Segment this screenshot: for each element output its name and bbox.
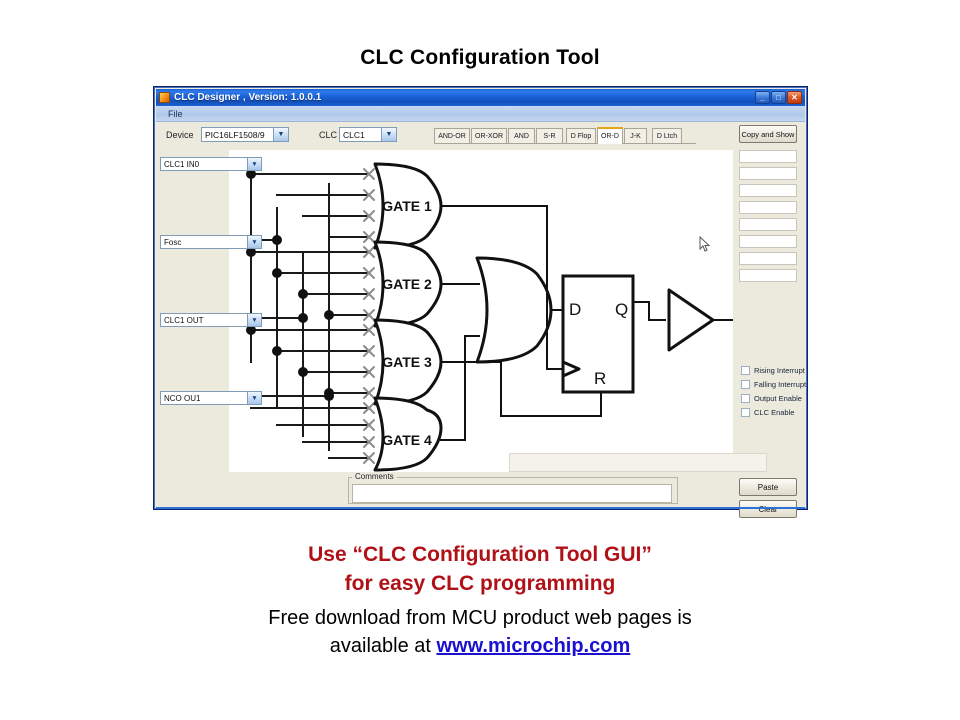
window-client-area: Device PIC16LF1508/9 ▼ CLC CLC1 ▼ AND-OR… bbox=[156, 122, 805, 507]
caption-line-4: available at www.microchip.com bbox=[0, 632, 960, 660]
toolbar-row: Device PIC16LF1508/9 ▼ CLC CLC1 ▼ AND-OR… bbox=[156, 122, 805, 152]
checkbox-label: Rising Interrupt bbox=[754, 366, 805, 375]
input-select-2-value: CLC1 OUT bbox=[161, 316, 204, 325]
tab-j-k[interactable]: J-K bbox=[624, 128, 647, 143]
canvas-bottom-strip bbox=[509, 453, 767, 472]
tab-and-or[interactable]: AND-OR bbox=[434, 128, 470, 143]
config-tabstrip: AND-OR OR-XOR AND S-R D Flop OR-D J-K D … bbox=[434, 127, 696, 144]
svg-text:R: R bbox=[594, 369, 606, 388]
maximize-icon[interactable]: □ bbox=[771, 91, 786, 104]
menu-item-file[interactable]: File bbox=[164, 108, 187, 120]
output-box-5[interactable] bbox=[739, 218, 797, 231]
chevron-down-icon: ▼ bbox=[381, 128, 396, 141]
output-box-8[interactable] bbox=[739, 269, 797, 282]
output-box-7[interactable] bbox=[739, 252, 797, 265]
caption-line-1: Use “CLC Configuration Tool GUI” bbox=[0, 540, 960, 569]
caption-line-3a: Free download from MCU product web pages… bbox=[268, 607, 692, 629]
copy-and-show-button[interactable]: Copy and Show bbox=[739, 125, 797, 143]
clc-select[interactable]: CLC1 ▼ bbox=[339, 127, 397, 142]
checkbox-output-enable[interactable]: Output Enable bbox=[741, 394, 802, 403]
input-select-1[interactable]: Fosc ▼ bbox=[160, 235, 262, 249]
svg-text:GATE 4: GATE 4 bbox=[382, 432, 432, 448]
caption-block: Use “CLC Configuration Tool GUI” for eas… bbox=[0, 540, 960, 660]
clc-label: CLC bbox=[319, 130, 337, 140]
checkbox-clc-enable[interactable]: CLC Enable bbox=[741, 408, 794, 417]
svg-text:GATE 3: GATE 3 bbox=[382, 354, 432, 370]
clc-select-value: CLC1 bbox=[340, 130, 365, 140]
chevron-down-icon: ▼ bbox=[247, 158, 261, 170]
window-buttons: _ □ ✕ bbox=[755, 91, 802, 104]
device-label: Device bbox=[166, 130, 194, 140]
checkbox-rising-interrupt[interactable]: Rising Interrupt bbox=[741, 366, 805, 375]
output-box-6[interactable] bbox=[739, 235, 797, 248]
svg-text:Q: Q bbox=[615, 300, 628, 319]
checkbox-falling-interrupt[interactable]: Falling Interrupt bbox=[741, 380, 806, 389]
close-icon[interactable]: ✕ bbox=[787, 91, 802, 104]
comments-input[interactable] bbox=[352, 484, 672, 503]
svg-text:GATE 2: GATE 2 bbox=[382, 276, 432, 292]
comments-label: Comments bbox=[352, 472, 397, 481]
checkbox-label: CLC Enable bbox=[754, 408, 794, 417]
minimize-icon[interactable]: _ bbox=[755, 91, 770, 104]
chevron-down-icon: ▼ bbox=[247, 392, 261, 404]
window-titlebar: CLC Designer , Version: 1.0.0.1 _ □ ✕ bbox=[156, 89, 805, 106]
checkbox-icon[interactable] bbox=[741, 394, 750, 403]
chevron-down-icon: ▼ bbox=[273, 128, 288, 141]
output-box-3[interactable] bbox=[739, 184, 797, 197]
output-box-1[interactable] bbox=[739, 150, 797, 163]
svg-text:GATE 1: GATE 1 bbox=[382, 198, 432, 214]
input-select-0-value: CLC1 IN0 bbox=[161, 160, 199, 169]
input-select-3-value: NCO OU1 bbox=[161, 394, 200, 403]
input-select-0[interactable]: CLC1 IN0 ▼ bbox=[160, 157, 262, 171]
checkbox-label: Output Enable bbox=[754, 394, 802, 403]
device-select-value: PIC16LF1508/9 bbox=[202, 130, 265, 140]
tab-or-d[interactable]: OR-D bbox=[597, 127, 623, 144]
clear-button[interactable]: Clear bbox=[739, 500, 797, 518]
window-status-bar bbox=[156, 507, 805, 509]
tab-s-r[interactable]: S-R bbox=[536, 128, 563, 143]
page-title: CLC Configuration Tool bbox=[0, 46, 960, 70]
menu-bar: File bbox=[156, 106, 805, 122]
checkbox-icon[interactable] bbox=[741, 366, 750, 375]
mouse-cursor-icon bbox=[699, 236, 711, 252]
chevron-down-icon: ▼ bbox=[247, 236, 261, 248]
caption-line-3b: available at bbox=[330, 635, 437, 657]
tab-or-xor[interactable]: OR-XOR bbox=[471, 128, 507, 143]
caption-line-3: Free download from MCU product web pages… bbox=[0, 604, 960, 632]
window-title: CLC Designer , Version: 1.0.0.1 bbox=[174, 92, 321, 103]
microchip-link[interactable]: www.microchip.com bbox=[437, 635, 631, 657]
checkbox-icon[interactable] bbox=[741, 408, 750, 417]
input-select-1-value: Fosc bbox=[161, 238, 181, 247]
svg-text:D: D bbox=[569, 300, 581, 319]
paste-button[interactable]: Paste bbox=[739, 478, 797, 496]
caption-line-2: for easy CLC programming bbox=[0, 569, 960, 598]
output-box-2[interactable] bbox=[739, 167, 797, 180]
checkbox-icon[interactable] bbox=[741, 380, 750, 389]
application-window: CLC Designer , Version: 1.0.0.1 _ □ ✕ Fi… bbox=[153, 86, 808, 510]
output-box-4[interactable] bbox=[739, 201, 797, 214]
tab-d-ltch[interactable]: D Ltch bbox=[652, 128, 682, 143]
input-select-3[interactable]: NCO OU1 ▼ bbox=[160, 391, 262, 405]
app-icon bbox=[159, 92, 170, 103]
tab-d-flop[interactable]: D Flop bbox=[566, 128, 596, 143]
schematic-canvas: GATE 1 GATE 2 GATE 3 GATE 4 bbox=[229, 150, 733, 472]
checkbox-label: Falling Interrupt bbox=[754, 380, 806, 389]
input-select-2[interactable]: CLC1 OUT ▼ bbox=[160, 313, 262, 327]
chevron-down-icon: ▼ bbox=[247, 314, 261, 326]
device-select[interactable]: PIC16LF1508/9 ▼ bbox=[201, 127, 289, 142]
tab-and[interactable]: AND bbox=[508, 128, 535, 143]
